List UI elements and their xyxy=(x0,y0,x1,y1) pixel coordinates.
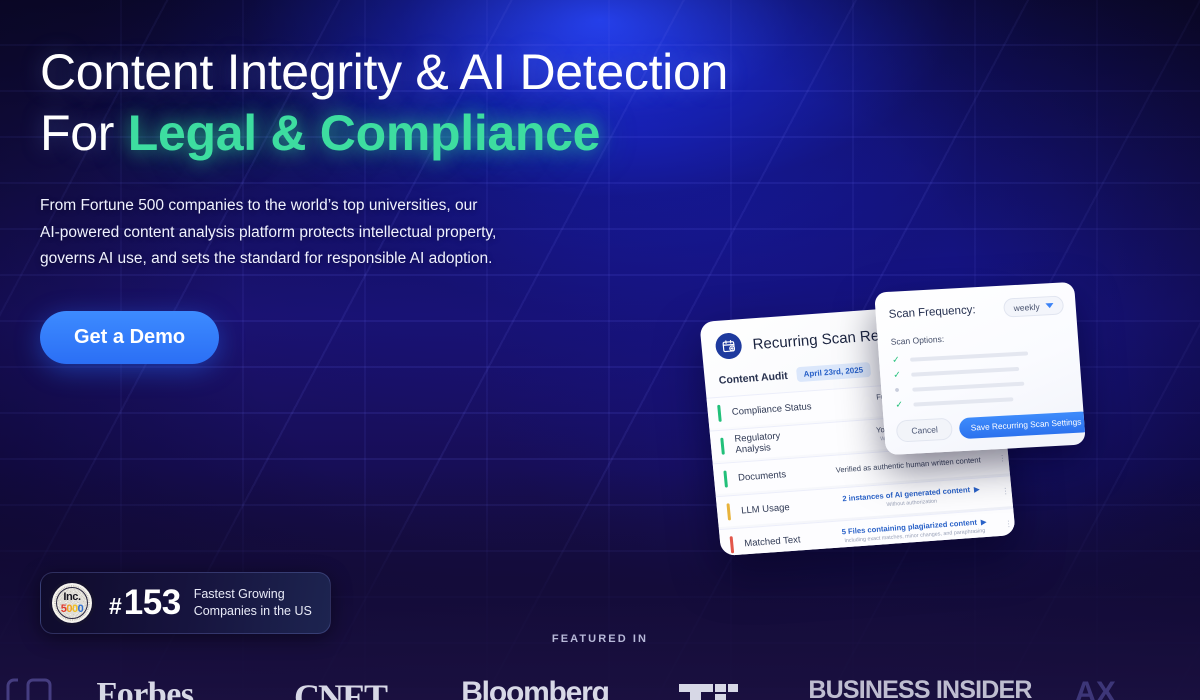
logo-business-insider: BUSINESS INSIDER xyxy=(805,676,1035,700)
hero-content: Content Integrity & AI Detection For Leg… xyxy=(40,42,940,364)
inc-badge-caption: Fastest Growing Companies in the US xyxy=(194,586,312,619)
chevron-down-icon xyxy=(1045,303,1053,308)
corner-watermark-icon xyxy=(2,660,60,700)
row-value: Verified as authentic human written cont… xyxy=(819,455,996,477)
inc-caption-line-2: Companies in the US xyxy=(194,603,312,620)
row-overflow-menu-icon[interactable]: ⋮ xyxy=(996,455,1009,462)
chevron-right-icon[interactable]: ▶ xyxy=(974,486,980,495)
row-status-bar xyxy=(723,470,728,487)
scan-option-placeholder-bar xyxy=(912,381,1024,391)
scan-option-placeholder-bar xyxy=(913,397,1013,406)
featured-in-label: Featured in xyxy=(0,633,1200,645)
row-status-bar xyxy=(717,404,722,421)
row-status-bar xyxy=(720,437,725,454)
audit-date-badge: April 23rd, 2025 xyxy=(796,362,871,382)
row-value: 2 instances of AI generated content▶With… xyxy=(822,484,1000,513)
featured-in-section: Featured in xyxy=(0,633,1200,645)
inc-rank-number: 153 xyxy=(124,583,181,623)
row-label: Regulatory Analysis xyxy=(734,428,818,456)
row-label: Documents xyxy=(738,466,821,483)
check-icon[interactable]: ✓ xyxy=(893,370,903,379)
row-overflow-menu-icon[interactable]: ⋮ xyxy=(1002,521,1015,528)
scan-option-placeholder-bar xyxy=(911,366,1019,376)
subcopy-line-2: AI-powered content analysis platform pro… xyxy=(40,224,496,241)
inc-5000-seal-icon: Inc. 5000 xyxy=(49,580,95,626)
press-logo-strip: Forbes CNET Bloomberg BUSINESS INSIDER A… xyxy=(0,676,1200,700)
row-overflow-menu-icon[interactable]: ⋮ xyxy=(999,488,1012,495)
inc-rank: # 153 xyxy=(109,583,181,623)
unchecked-circle-icon[interactable]: ● xyxy=(894,385,904,394)
scan-frequency-select[interactable]: weekly xyxy=(1003,295,1064,317)
check-icon[interactable]: ✓ xyxy=(895,400,905,409)
cancel-button[interactable]: Cancel xyxy=(896,418,954,443)
logo-techcrunch xyxy=(635,676,805,700)
chevron-right-icon[interactable]: ▶ xyxy=(981,519,987,528)
logo-axios: AX xyxy=(1035,676,1155,700)
logo-cnet: CNET xyxy=(245,676,435,700)
subcopy-line-1: From Fortune 500 companies to the world’… xyxy=(40,197,477,214)
row-label: Compliance Status xyxy=(731,401,814,418)
save-recurring-scan-settings-button[interactable]: Save Recurring Scan Settings xyxy=(959,411,1086,439)
headline-accent: Legal & Compliance xyxy=(128,105,600,161)
row-label: LLM Usage xyxy=(741,499,824,516)
logo-forbes: Forbes xyxy=(45,676,245,700)
headline-line-1: Content Integrity & AI Detection xyxy=(40,44,728,100)
row-value: 5 Files containing plagiarized content▶I… xyxy=(825,517,1003,546)
seal-5000-text: 5000 xyxy=(61,604,84,615)
headline-line-2-prefix: For xyxy=(40,105,128,161)
content-audit-label: Content Audit xyxy=(718,369,788,386)
scan-frequency-value: weekly xyxy=(1013,301,1040,312)
row-status-bar xyxy=(726,503,731,520)
row-label: Matched Text xyxy=(744,532,827,549)
seal-inc-text: Inc. xyxy=(61,592,84,603)
inc-caption-line-1: Fastest Growing xyxy=(194,586,312,603)
hero-subcopy: From Fortune 500 companies to the world’… xyxy=(40,193,620,273)
page-title: Content Integrity & AI Detection For Leg… xyxy=(40,42,940,163)
row-value-main: Verified as authentic human written cont… xyxy=(819,455,996,477)
logo-bloomberg: Bloomberg xyxy=(435,676,635,700)
inc-5000-badge: Inc. 5000 # 153 Fastest Growing Companie… xyxy=(40,572,331,634)
hero-section: Content Integrity & AI Detection For Leg… xyxy=(0,0,1200,700)
inc-rank-hash: # xyxy=(109,593,122,620)
subcopy-line-3: governs AI use, and sets the standard fo… xyxy=(40,250,492,267)
get-a-demo-button[interactable]: Get a Demo xyxy=(40,311,219,364)
row-status-bar xyxy=(730,536,735,553)
